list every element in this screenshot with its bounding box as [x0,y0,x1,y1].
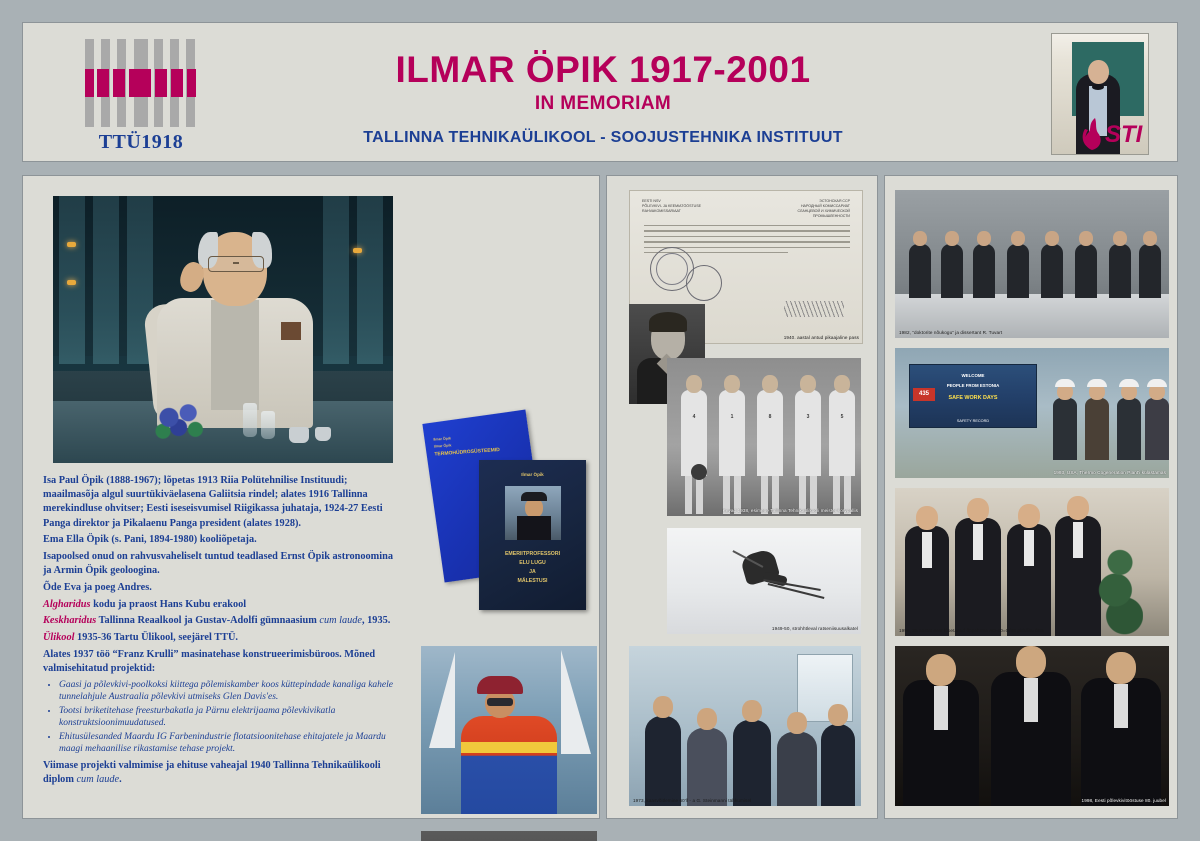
person [905,526,949,636]
person [777,732,817,806]
bio-mother: Ema Ella Öpik (s. Pani, 1894-1980) kooli… [43,533,399,547]
ttu-logo-label: TTÜ1918 [71,131,211,154]
page-title: ILMAR ÖPIK 1917-2001 [233,51,973,90]
basketball-team-photo: 4 1 8 3 5 Kevad 1938, esimene Tallinna T… [667,358,861,516]
bio-siblings: Õde Eva ja poeg Andres. [43,581,399,595]
book-navy-title-l2: ELU LUGU [519,560,546,566]
bio-father: Isa Paul Öpik (1888-1967); lõpetas 1913 … [43,474,399,531]
caption-lecture: 1973, kaasvõitlemine 60'll - a G. Steinm… [633,798,751,804]
yacht-figure-body [461,716,557,814]
doc-hdr-right-3: СЛАНЦЕВОЙ И ХИМИЧЕСКОЙ [798,209,851,213]
book-navy-title-l4: MÄLESTUSI [518,578,548,584]
person [1007,524,1051,636]
book-navy-title-l1: EMERIITPROFESSORI [505,551,560,557]
book-blue-title: Ilmar Öpik Ilmar Öpik TERMOHÜDROSÜSTEEMI… [433,431,522,459]
left-column-panel: Isa Paul Öpik (1888-1967); lõpetas 1913 … [22,175,600,819]
person [1139,244,1161,298]
title-block: ILMAR ÖPIK 1917-2001 IN MEMORIAM TALLINN… [233,51,973,147]
sign-line-1: WELCOME [910,373,1036,378]
signature-mark [784,301,844,317]
player: 1 [719,390,745,476]
lecture-room-photo: 1973, kaasvõitlemine 60'll - a G. Steinm… [629,646,861,806]
secondary-year: , 1935. [362,615,390,626]
caption-ski: 1949-50, strohhtleval ratseniisuusalkate… [772,626,858,632]
person [1145,398,1169,460]
book-navy-photo [505,486,561,540]
bio-uncles: Isapoolsed onud on rahvusvaheliselt tunt… [43,550,399,578]
person [955,518,1001,636]
list-item: Ehitusülesanded Maardu IG Farbenindustri… [59,731,399,756]
person [687,728,727,806]
ttu-logo: TTÜ1918 [71,33,211,158]
poster-header: TTÜ1918 ILMAR ÖPIK 1917-2001 IN MEMORIAM… [22,22,1178,162]
document-header-left: EESTI NSV PÕLEVKIVI- JA KEEMIATÖÖSTUSE R… [642,199,701,214]
biography-text: Isa Paul Öpik (1888-1967); lõpetas 1913 … [43,474,399,790]
secondary-cum-laude: cum laude [319,615,362,626]
person [1117,398,1141,460]
desk-1953-photo: 1953, pärast tehnikakandidaadi väitekirj… [421,831,597,841]
doc-hdr-left-2: PÕLEVKIVI- JA KEEMIATÖÖSTUSE [642,204,701,208]
yacht-sunglasses-icon [487,698,513,706]
portrait-shirt [211,300,259,410]
yacht-cap-icon [477,676,523,694]
bio-university: Ülikool 1935-36 Tartu Ülikool, seejärel … [43,631,399,645]
institution-line: TALLINNA TEHNIKAÜLIKOOL - SOOJUSTEHNIKA … [233,129,973,147]
person [1041,244,1063,298]
person [733,720,771,806]
label-university: Ülikool [43,632,74,643]
caption-meeting: 1982, “doktorite nõukogu” ja dissertant … [899,330,1002,336]
yacht-figure-stripe [461,742,557,753]
ttu-logo-bars-icon [85,39,197,127]
page-subtitle: IN MEMORIAM [233,93,973,115]
caption-basketball: Kevad 1938, esimene Tallinna Tehnikaülik… [723,508,858,514]
doc-hdr-right-2: НАРОДНЫЙ КОМИССАРИАТ [801,204,850,208]
caption-usa-visit: 1993, USA, Thermo Cogeneration Plant'i k… [1054,470,1166,476]
person [1055,516,1101,636]
book-covers-group: Ilmar Öpik Ilmar Öpik TERMOHÜDROSÜSTEEMI… [421,416,596,631]
middle-column-panel: EESTI NSV PÕLEVKIVI- JA KEEMIATÖÖSTUSE R… [606,175,878,819]
document-header-right: ЭСТОНСКАЯ ССР НАРОДНЫЙ КОМИССАРИАТ СЛАНЦ… [798,199,851,219]
bio-primary-education: Algharidus kodu ja praost Hans Kubu erak… [43,598,399,612]
yacht-photo [421,646,597,814]
project-list: Gaasi ja põlevkivi-poolkoksi kiittega põ… [43,679,399,756]
doc-hdr-right-1: ЭСТОНСКАЯ ССР [819,199,850,203]
portrait-pocket-patch [281,322,301,340]
sti-label: STI [1105,121,1142,149]
person [973,244,995,298]
anniversary-gala-photo: 1996, 35 aastat eest lõpetanud õppehrma … [895,488,1169,636]
player: 5 [829,390,855,476]
young-hair [649,312,687,332]
sti-flame-icon [1079,117,1105,151]
value-secondary-education: Tallinna Reaalkool ja Gustav-Adolfi gümn… [99,615,317,626]
right-column-panel: 1982, “doktorite nõukogu” ja dissertant … [884,175,1178,819]
portrait-eyeglasses-icon [208,256,264,272]
person [821,724,855,806]
caption-jubilee: 1998, Eesti põlevkivitööstuse 80. juubel [1082,798,1166,804]
book-navy-title: EMERIITPROFESSORI ELU LUGU JA MÄLESTUSI [479,550,586,585]
person [1081,678,1161,806]
bio-secondary-education: Keskharidus Tallinna Reaalkool ja Gustav… [43,614,399,628]
sti-logo: STI [1079,117,1157,153]
book-cover-navy: Ilmar Öpik EMERIITPROFESSORI ELU LUGU JA… [479,460,586,610]
usa-plant-visit-photo: WELCOME PEOPLE FROM ESTONIA SAFE WORK DA… [895,348,1169,478]
desk-wall [421,831,597,841]
doc-hdr-left-1: EESTI NSV [642,199,661,203]
basketball-icon [691,464,707,480]
list-item: Tootsi briketitehase freesturbakatla ja … [59,705,399,730]
jubilee-photo: 1998, Eesti põlevkivitööstuse 80. juubel [895,646,1169,806]
person [1075,244,1097,298]
bow-tie [1092,84,1104,90]
person [645,716,681,806]
player: 3 [795,390,821,476]
doc-hdr-left-3: RAHVAKOMISSARIAAT [642,209,681,213]
secondary-stamp-icon [686,265,722,301]
bio-work-intro: Alates 1937 töö “Franz Krulli” masinateh… [43,648,399,676]
book-navy-title-l3: JA [529,569,536,575]
flower-arrangement [151,399,211,445]
caption-gala: 1996, 35 aastat eest lõpetanud õppehrma … [899,628,1044,634]
person [941,244,963,298]
person [1007,244,1029,298]
person [991,672,1071,806]
value-university: 1935-36 Tartu Ülikool, seejärel TTÜ. [77,632,238,643]
caption-document: 1940. aastal antud pikaajaline pass [784,335,859,341]
person [1085,398,1109,460]
poster-root: TTÜ1918 ILMAR ÖPIK 1917-2001 IN MEMORIAM… [0,0,1200,841]
closing-cum-laude: cum laude [76,774,119,785]
sign-day-number: 435 [913,388,935,401]
skiing-photo: 1949-50, strohhtleval ratseniisuusalkate… [667,528,861,634]
label-secondary-education: Keskharidus [43,615,96,626]
person [903,680,979,806]
book-navy-author: Ilmar Öpik [479,472,586,477]
figure-head [1088,60,1109,84]
council-meeting-photo: 1982, “doktorite nõukogu” ja dissertant … [895,190,1169,338]
bio-closing: Viimase projekti valmimise ja ehituse va… [43,759,399,787]
person [1109,244,1131,298]
person [1053,398,1077,460]
closing-period: . [119,774,122,785]
person [909,244,931,298]
player: 8 [757,390,783,476]
main-portrait-photo [53,196,393,463]
list-item: Gaasi ja põlevkivi-poolkoksi kiittega põ… [59,679,399,704]
decorated-tree [1097,544,1143,636]
doc-hdr-right-4: ПРОМЫШЛЕННОСТИ [813,214,850,218]
label-primary-education: Algharidus [43,599,91,610]
player: 4 [681,390,707,476]
value-primary-education: kodu ja praost Hans Kubu erakool [93,599,246,610]
sign-line-4: SAFETY RECORD [910,419,1036,423]
